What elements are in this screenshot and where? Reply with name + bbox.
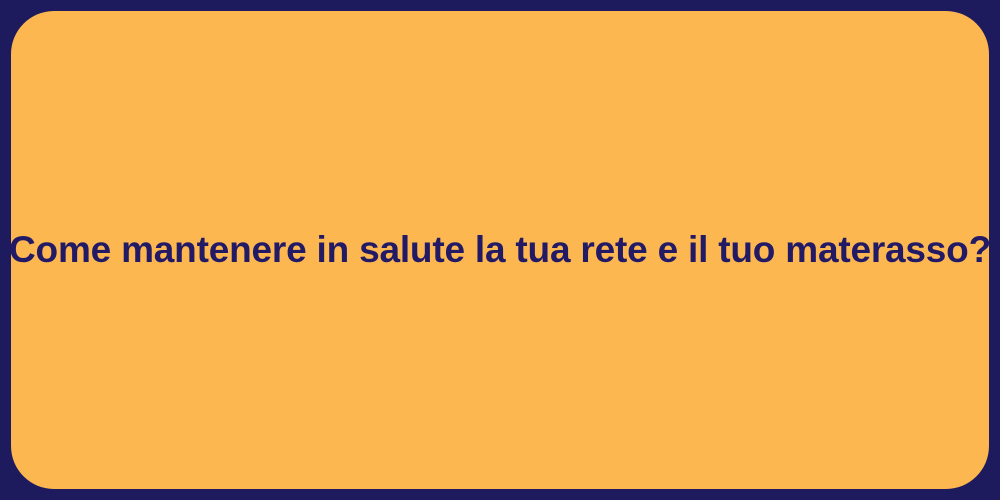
banner-frame: Come mantenere in salute la tua rete e i… [0, 0, 1000, 500]
banner-panel: Come mantenere in salute la tua rete e i… [11, 11, 989, 489]
headline-text: Come mantenere in salute la tua rete e i… [0, 226, 1000, 274]
